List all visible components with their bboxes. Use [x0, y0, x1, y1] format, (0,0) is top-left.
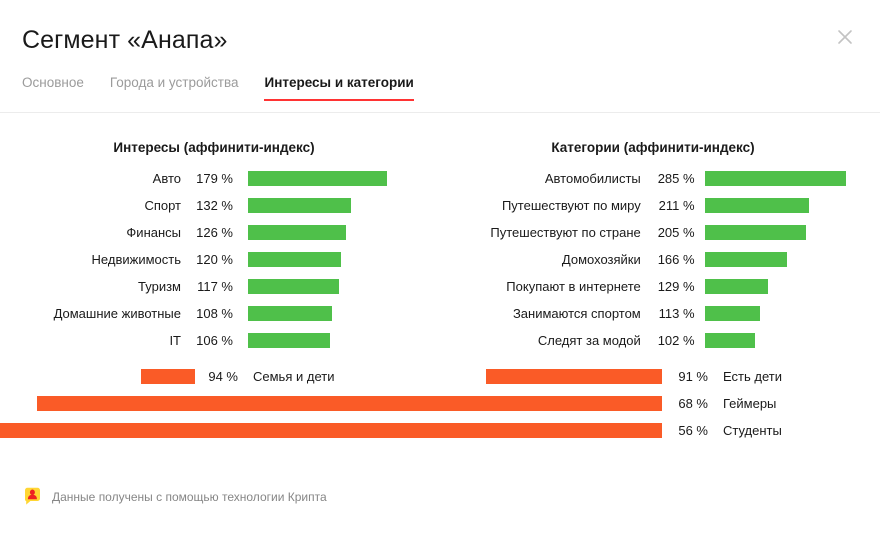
- chart-row-label: Автомобилисты: [440, 171, 650, 186]
- chart-bar-track: [248, 198, 428, 213]
- chart-row: Домашние животные108 %: [0, 300, 440, 327]
- chart-row: Спорт132 %: [0, 192, 440, 219]
- chart-row-label: Недвижимость: [0, 252, 190, 267]
- chart-row-value: 91 %: [662, 369, 708, 384]
- chart-bar: [705, 252, 787, 267]
- close-icon[interactable]: [832, 24, 858, 50]
- chart-row: 68 %Геймеры: [440, 390, 880, 417]
- chart-row: Домохозяйки166 %: [440, 246, 880, 273]
- chart-bar: [248, 306, 332, 321]
- chart-bar-track: [480, 396, 662, 411]
- chart-bar: [248, 279, 339, 294]
- chart-bar-track: [248, 252, 428, 267]
- chart-bar-track: [705, 306, 880, 321]
- chart-row-value: 179 %: [190, 171, 233, 186]
- chart-row-label: Путешествуют по миру: [440, 198, 650, 213]
- chart-row: 56 %Студенты: [440, 417, 880, 444]
- krypta-footer: Данные получены с помощью технологии Кри…: [22, 486, 327, 507]
- chart-bar: [705, 279, 769, 294]
- chart-bar: [705, 198, 809, 213]
- chart-bar: [248, 333, 330, 348]
- chart-bar-track: [705, 225, 880, 240]
- chart-row-label: Финансы: [0, 225, 190, 240]
- krypta-footer-text: Данные получены с помощью технологии Кри…: [52, 490, 327, 504]
- segment-details-modal: Сегмент «Анапа» Основное Города и устрой…: [0, 0, 880, 537]
- interests-group-gap: [0, 354, 440, 363]
- chart-row-label: Покупают в интернете: [440, 279, 650, 294]
- chart-bar: [141, 369, 195, 384]
- tab-interests-categories[interactable]: Интересы и категории: [264, 75, 413, 101]
- chart-row: Туризм117 %: [0, 273, 440, 300]
- chart-row: Недвижимость120 %: [0, 246, 440, 273]
- chart-row-label: IT: [0, 333, 190, 348]
- chart-row: Покупают в интернете129 %: [440, 273, 880, 300]
- chart-row-value: 108 %: [190, 306, 233, 321]
- chart-row-value: 117 %: [190, 279, 233, 294]
- tab-osnovnoe[interactable]: Основное: [22, 75, 84, 101]
- charts-container: Интересы (аффинити-индекс) Авто179 %Спор…: [0, 140, 880, 444]
- chart-bar: [0, 423, 662, 438]
- chart-bar-track: [705, 279, 880, 294]
- chart-row-label: Есть дети: [708, 369, 863, 384]
- chart-row-value: 166 %: [650, 252, 695, 267]
- chart-bar-track: [248, 225, 428, 240]
- chart-bar: [705, 333, 755, 348]
- categories-chart-title: Категории (аффинити-индекс): [440, 140, 880, 162]
- chart-bar: [248, 171, 387, 186]
- page-title: Сегмент «Анапа»: [22, 26, 228, 55]
- chart-bar-track: [480, 423, 662, 438]
- chart-row-value: 113 %: [650, 306, 695, 321]
- chart-row-label: Авто: [0, 171, 190, 186]
- chart-bar-track: [248, 306, 428, 321]
- chart-bar: [705, 225, 806, 240]
- chart-row: Автомобилисты285 %: [440, 165, 880, 192]
- chart-row-value: 68 %: [662, 396, 708, 411]
- chart-row-value: 129 %: [650, 279, 695, 294]
- chart-row-label: Занимаются спортом: [440, 306, 650, 321]
- chart-bar-track: [705, 198, 880, 213]
- chart-bar: [248, 198, 351, 213]
- chart-row-value: 94 %: [195, 369, 238, 384]
- chart-row-label: Студенты: [708, 423, 863, 438]
- chart-row: Путешествуют по стране205 %: [440, 219, 880, 246]
- chart-bar: [705, 306, 761, 321]
- chart-bar: [486, 369, 662, 384]
- chart-bar: [248, 252, 341, 267]
- chart-row-label: Домохозяйки: [440, 252, 650, 267]
- chart-row-label: Путешествуют по стране: [440, 225, 650, 240]
- chart-bar: [705, 171, 846, 186]
- chart-bar-track: [248, 279, 428, 294]
- chart-bar: [248, 225, 346, 240]
- chart-row-label: Домашние животные: [0, 306, 190, 321]
- header-divider: [0, 112, 880, 113]
- chart-bar: [37, 396, 662, 411]
- chart-row-value: 211 %: [650, 198, 695, 213]
- chart-row: Путешествуют по миру211 %: [440, 192, 880, 219]
- chart-row-label: Туризм: [0, 279, 190, 294]
- chart-row-label: Семья и дети: [238, 369, 420, 384]
- chart-row-label: Следят за модой: [440, 333, 650, 348]
- chart-bar-track: [480, 369, 662, 384]
- chart-row: Финансы126 %: [0, 219, 440, 246]
- categories-group-gap: [440, 354, 880, 363]
- chart-bar-track: [248, 333, 428, 348]
- chart-row-value: 205 %: [650, 225, 695, 240]
- chart-bar-track: [248, 171, 428, 186]
- tab-cities-devices[interactable]: Города и устройства: [110, 75, 239, 101]
- chart-bar-track: [0, 369, 195, 384]
- chart-row-value: 126 %: [190, 225, 233, 240]
- chart-bar-track: [705, 333, 880, 348]
- categories-chart: Категории (аффинити-индекс) Автомобилист…: [440, 140, 880, 444]
- chart-row-label: Спорт: [0, 198, 190, 213]
- chart-row: Следят за модой102 %: [440, 327, 880, 354]
- chart-row: Занимаются спортом113 %: [440, 300, 880, 327]
- interests-chart-title: Интересы (аффинити-индекс): [0, 140, 440, 162]
- chart-row: IT106 %: [0, 327, 440, 354]
- chart-row-label: Геймеры: [708, 396, 863, 411]
- chart-row-value: 56 %: [662, 423, 708, 438]
- categories-chart-rows: Автомобилисты285 %Путешествуют по миру21…: [440, 165, 880, 444]
- chart-row-value: 120 %: [190, 252, 233, 267]
- chart-row: 94 %Семья и дети: [0, 363, 440, 390]
- chart-row-value: 102 %: [650, 333, 695, 348]
- chart-row-value: 106 %: [190, 333, 233, 348]
- chart-row-value: 285 %: [650, 171, 695, 186]
- chart-row: 91 %Есть дети: [440, 363, 880, 390]
- chart-bar-track: [705, 252, 880, 267]
- chart-bar-track: [705, 171, 880, 186]
- chart-row: Авто179 %: [0, 165, 440, 192]
- chart-row-value: 132 %: [190, 198, 233, 213]
- tab-bar: Основное Города и устройства Интересы и …: [22, 75, 440, 113]
- krypta-icon: [22, 486, 43, 507]
